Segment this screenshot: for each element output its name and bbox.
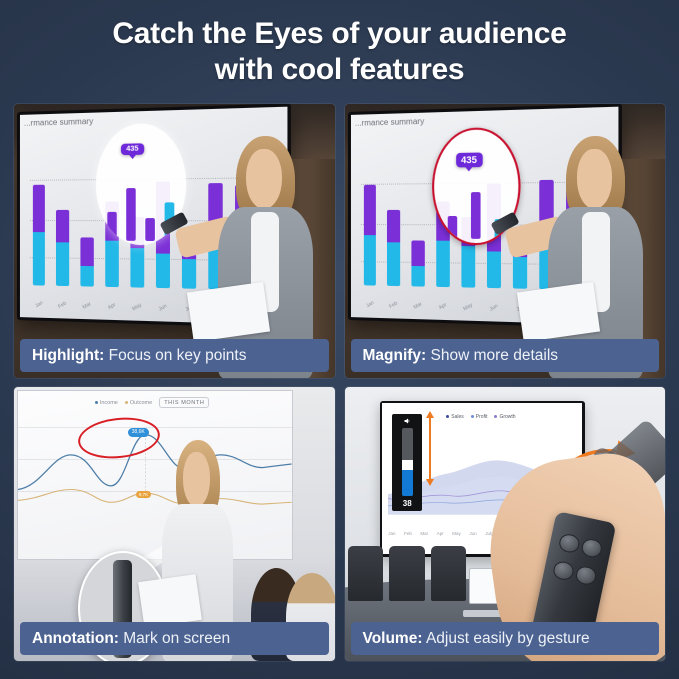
caption-highlight: Highlight: Focus on key points [20, 339, 329, 372]
headline-line-1: Catch the Eyes of your audience [112, 17, 566, 51]
period-selector[interactable]: THIS MONTH [159, 397, 209, 408]
bar-column [57, 159, 70, 286]
value-tooltip: 435 [121, 143, 144, 155]
legend-outcome: Outcome [125, 400, 152, 406]
presenter-face [183, 452, 210, 507]
x-tick: Mar [420, 531, 428, 536]
volume-slider-fill [402, 470, 413, 496]
caption-magnify: Magnify: Show more details [351, 339, 660, 372]
x-tick: Jan [32, 299, 46, 311]
legend-growth: Growth [494, 414, 515, 420]
chart-title: ...rmance summary [355, 117, 424, 128]
legend-profit-label: Profit [476, 414, 488, 420]
legend-outcome-label: Outcome [130, 400, 152, 406]
presenter-face [246, 149, 282, 209]
bar-column [363, 159, 376, 285]
remote-prev-button[interactable] [552, 559, 576, 581]
caption-volume: Volume: Adjust easily by gesture [351, 622, 660, 655]
annotation-scene: Income Outcome THIS MONTH [14, 387, 335, 661]
caption-text: Adjust easily by gesture [423, 630, 590, 647]
board-toolbar: Income Outcome THIS MONTH [95, 397, 284, 408]
volume-osd[interactable]: 38 [392, 414, 422, 511]
x-tick: May [130, 302, 145, 314]
volume-level-value: 38 [403, 499, 412, 508]
bar-column [411, 158, 424, 286]
remote-next-button[interactable] [574, 564, 598, 586]
feature-panel-highlight[interactable]: ...rmance summary [14, 104, 335, 378]
legend-growth-label: Growth [499, 414, 515, 420]
remote-power-button[interactable] [557, 532, 581, 554]
caption-title: Magnify: [363, 347, 427, 364]
chart-title: ...rmance summary [24, 117, 93, 128]
chair [348, 546, 383, 601]
x-tick: Apr [105, 301, 120, 313]
x-tick: Mar [80, 300, 94, 312]
x-tick: Jun [486, 302, 501, 314]
x-tick: May [461, 302, 476, 314]
x-tick: Mar [411, 300, 425, 312]
bar-column [33, 159, 46, 285]
caption-text: Focus on key points [104, 347, 246, 364]
caption-title: Annotation: [32, 630, 119, 647]
legend-sales: Sales [446, 414, 464, 420]
chair [431, 546, 466, 601]
legend-income: Income [95, 400, 118, 406]
x-tick: Feb [386, 300, 400, 312]
bar-column [81, 158, 94, 286]
feature-panel-annotation[interactable]: Income Outcome THIS MONTH [14, 387, 335, 661]
chart-legend: Sales Profit Growth [446, 414, 515, 420]
remote-laser-button[interactable] [580, 537, 604, 559]
speaker-icon [403, 417, 411, 425]
caption-title: Volume: [363, 630, 423, 647]
caption-annotation: Annotation: Mark on screen [20, 622, 329, 655]
caption-text: Show more details [426, 347, 558, 364]
volume-scene: Sales Profit Growth Jan Feb Mar [345, 387, 666, 661]
caption-title: Highlight: [32, 347, 104, 364]
x-tick: Apr [437, 531, 444, 536]
highlight-scene: ...rmance summary [14, 104, 335, 378]
x-tick: Jun [469, 531, 476, 536]
legend-sales-label: Sales [451, 414, 464, 420]
feature-panel-magnify[interactable]: ...rmance summary [345, 104, 666, 378]
x-tick: Jun [155, 302, 170, 314]
x-tick: Feb [404, 531, 412, 536]
presenter-paper [138, 574, 202, 628]
feature-panel-grid: ...rmance summary [0, 104, 679, 679]
presenter-face [577, 149, 613, 209]
volume-gesture-arrow-icon [429, 417, 431, 480]
headline-line-2: with cool features [215, 53, 465, 87]
caption-text: Mark on screen [119, 630, 230, 647]
feature-panel-volume[interactable]: Sales Profit Growth Jan Feb Mar [345, 387, 666, 661]
x-tick: Jan [362, 299, 376, 311]
legend-profit: Profit [471, 414, 488, 420]
volume-slider-track[interactable] [402, 428, 413, 496]
x-tick: Jan [388, 531, 395, 536]
x-tick: Feb [56, 300, 70, 312]
chair [389, 546, 424, 601]
bar-column [387, 159, 400, 286]
x-tick: May [452, 531, 461, 536]
magnify-scene: ...rmance summary [345, 104, 666, 378]
x-tick: Apr [435, 301, 450, 313]
value-tooltip: 435 [455, 153, 482, 168]
page-header: Catch the Eyes of your audience with coo… [0, 0, 679, 104]
legend-income-label: Income [100, 400, 118, 406]
volume-slider-knob[interactable] [402, 460, 413, 469]
peak-value-badge: 38,6K [128, 428, 149, 437]
